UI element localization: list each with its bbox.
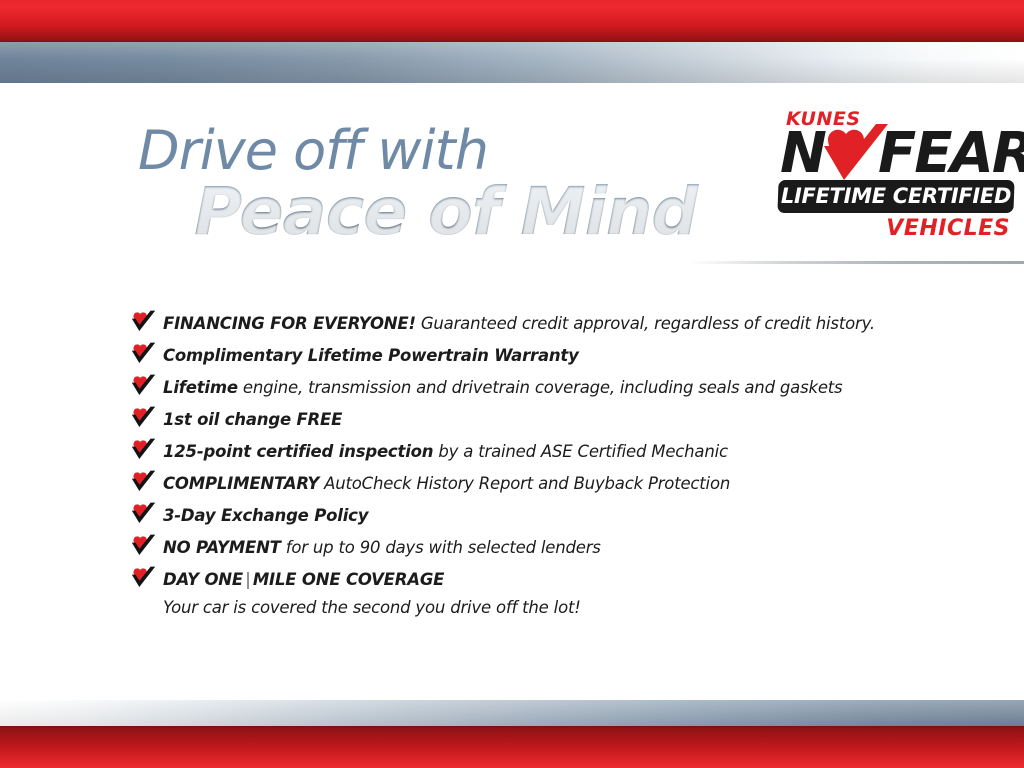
check-heart-icon [130, 342, 156, 364]
list-item-text: Complimentary Lifetime Powertrain Warran… [163, 346, 579, 365]
list-item: 3-Day Exchange Policy [130, 500, 990, 532]
list-item-bold: 125-point certified inspection [163, 442, 433, 461]
check-heart-icon [130, 310, 156, 332]
headline-line-2: Peace of Mind [194, 176, 758, 248]
list-item-text: Lifetime engine, transmission and drivet… [163, 378, 842, 397]
list-item-text: NO PAYMENT for up to 90 days with select… [163, 538, 601, 557]
check-heart-icon [130, 502, 156, 524]
top-gray-bar [0, 42, 1024, 83]
list-item-bold: COMPLIMENTARY [163, 474, 319, 493]
list-item-bold: 3-Day Exchange Policy [163, 506, 368, 525]
list-item-bold: 1st oil change FREE [163, 410, 342, 429]
list-item: Lifetime engine, transmission and drivet… [130, 372, 990, 404]
list-item-text: FINANCING FOR EVERYONE! Guaranteed credi… [163, 314, 875, 333]
list-item-text: 3-Day Exchange Policy [163, 506, 368, 525]
kunes-no-fear-logo: KUNES N FEAR LIFETIME CERTIFIED VEHICLES [778, 108, 1014, 248]
list-item-normal: for up to 90 days with selected lenders [281, 538, 601, 557]
list-item: 1st oil change FREE [130, 404, 990, 436]
headline-block: Drive off with Peace of Mind [138, 122, 758, 248]
check-heart-icon [130, 566, 156, 588]
list-item-bold: Complimentary Lifetime Powertrain Warran… [163, 346, 579, 365]
check-heart-icon [130, 534, 156, 556]
list-item-text: 125-point certified inspection by a trai… [163, 442, 728, 461]
list-item-normal: by a trained ASE Certified Mechanic [433, 442, 728, 461]
list-item: Complimentary Lifetime Powertrain Warran… [130, 340, 990, 372]
logo-vehicles-text: VEHICLES [886, 216, 1010, 241]
list-item: NO PAYMENT for up to 90 days with select… [130, 532, 990, 564]
logo-nofear-wordmark: N FEAR [778, 126, 1014, 184]
list-item-bold: FINANCING FOR EVERYONE! [163, 314, 416, 333]
list-item-normal: AutoCheck History Report and Buyback Pro… [319, 474, 730, 493]
list-item-text: COMPLIMENTARY AutoCheck History Report a… [163, 474, 730, 493]
headline-line-1: Drive off with [138, 122, 758, 180]
check-heart-icon [130, 406, 156, 428]
list-item-bold-2: MILE ONE COVERAGE [253, 570, 444, 589]
logo-banner-text: LIFETIME CERTIFIED [778, 180, 1014, 213]
top-red-bar [0, 0, 1024, 42]
promo-page: Drive off with Peace of Mind KUNES N FEA… [0, 0, 1024, 768]
logo-word-fear: FEAR [878, 126, 1024, 182]
list-item-normal: Guaranteed credit approval, regardless o… [416, 314, 875, 333]
check-heart-icon [130, 374, 156, 396]
list-item-text: 1st oil change FREE [163, 410, 342, 429]
bottom-gray-bar [0, 700, 1024, 726]
list-item-text: DAY ONE|MILE ONE COVERAGE [163, 570, 444, 589]
list-item-subtext: Your car is covered the second you drive… [130, 596, 990, 620]
list-item-normal: engine, transmission and drivetrain cove… [238, 378, 843, 397]
bottom-red-bar [0, 726, 1024, 768]
list-item: DAY ONE|MILE ONE COVERAGE [130, 564, 990, 596]
list-item-separator: | [243, 570, 253, 589]
list-item-bold: DAY ONE [163, 570, 243, 589]
list-item-bold: NO PAYMENT [163, 538, 281, 557]
benefits-list: FINANCING FOR EVERYONE! Guaranteed credi… [130, 308, 990, 620]
check-heart-icon [130, 470, 156, 492]
headline-divider [690, 261, 1024, 264]
list-item: 125-point certified inspection by a trai… [130, 436, 990, 468]
list-item: FINANCING FOR EVERYONE! Guaranteed credi… [130, 308, 990, 340]
list-item: COMPLIMENTARY AutoCheck History Report a… [130, 468, 990, 500]
check-heart-icon [130, 438, 156, 460]
list-item-bold: Lifetime [163, 378, 238, 397]
